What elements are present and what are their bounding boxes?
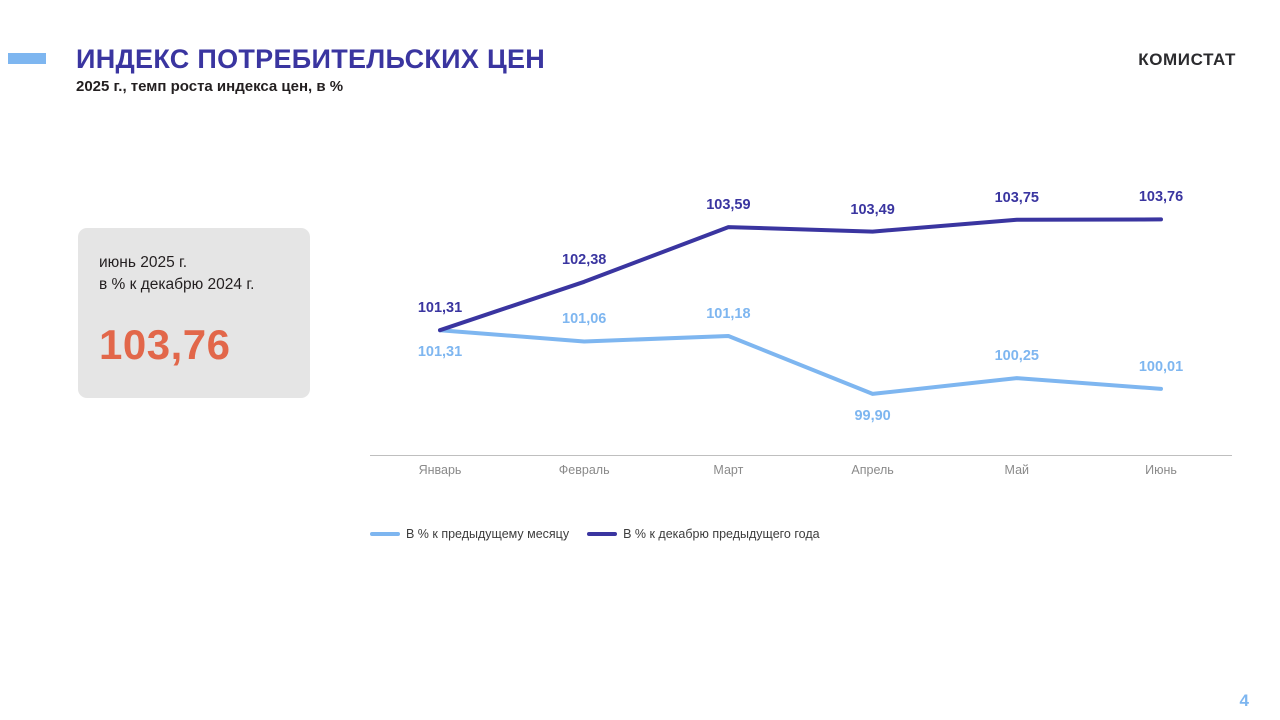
- data-label-prev-month-1: 101,31: [418, 344, 462, 360]
- x-axis-tick-3: Март: [668, 463, 788, 477]
- data-label-dec-prev-year-1: 101,31: [418, 300, 462, 316]
- data-label-prev-month-3: 101,18: [706, 306, 750, 322]
- series-line-previous-month: [440, 330, 1161, 394]
- data-label-dec-prev-year-6: 103,76: [1139, 189, 1183, 205]
- kpi-caption-line1: июнь 2025 г.: [99, 252, 254, 274]
- accent-bar-icon: [8, 53, 46, 64]
- legend-item-2[interactable]: В % к декабрю предыдущего года: [587, 527, 819, 541]
- kpi-card: июнь 2025 г. в % к декабрю 2024 г. 103,7…: [78, 228, 310, 398]
- data-label-prev-month-5: 100,25: [995, 348, 1039, 364]
- kpi-caption-line2: в % к декабрю 2024 г.: [99, 274, 254, 296]
- legend-swatch-icon-2: [587, 532, 617, 536]
- x-axis-line: [370, 455, 1232, 456]
- data-label-prev-month-6: 100,01: [1139, 359, 1183, 375]
- data-label-prev-month-4: 99,90: [854, 408, 890, 424]
- x-axis-tick-4: Апрель: [813, 463, 933, 477]
- kpi-value: 103,76: [99, 321, 230, 369]
- line-chart: ЯнварьФевральМартАпрельМайИюнь 101,31101…: [370, 150, 1238, 480]
- page-subtitle: 2025 г., темп роста индекса цен, в %: [76, 78, 343, 95]
- chart-plot-svg: [370, 150, 1238, 480]
- data-label-dec-prev-year-3: 103,59: [706, 197, 750, 213]
- brand-logo: КОМИСТАТ: [1138, 50, 1236, 70]
- data-label-dec-prev-year-4: 103,49: [850, 202, 894, 218]
- page-number: 4: [1240, 691, 1249, 711]
- x-axis-tick-5: Май: [957, 463, 1077, 477]
- legend-item-1[interactable]: В % к предыдущему месяцу: [370, 527, 569, 541]
- data-label-dec-prev-year-2: 102,38: [562, 252, 606, 268]
- legend-label-2: В % к декабрю предыдущего года: [623, 527, 819, 541]
- page-title: ИНДЕКС ПОТРЕБИТЕЛЬСКИХ ЦЕН: [76, 44, 545, 75]
- chart-legend: В % к предыдущему месяцуВ % к декабрю пр…: [370, 527, 820, 541]
- series-line-december-previous-year: [440, 219, 1161, 330]
- data-label-dec-prev-year-5: 103,75: [995, 190, 1039, 206]
- kpi-caption: июнь 2025 г. в % к декабрю 2024 г.: [99, 252, 254, 296]
- legend-label-1: В % к предыдущему месяцу: [406, 527, 569, 541]
- x-axis-tick-2: Февраль: [524, 463, 644, 477]
- data-label-prev-month-2: 101,06: [562, 311, 606, 327]
- x-axis-tick-6: Июнь: [1101, 463, 1221, 477]
- legend-swatch-icon-1: [370, 532, 400, 536]
- x-axis-tick-1: Январь: [380, 463, 500, 477]
